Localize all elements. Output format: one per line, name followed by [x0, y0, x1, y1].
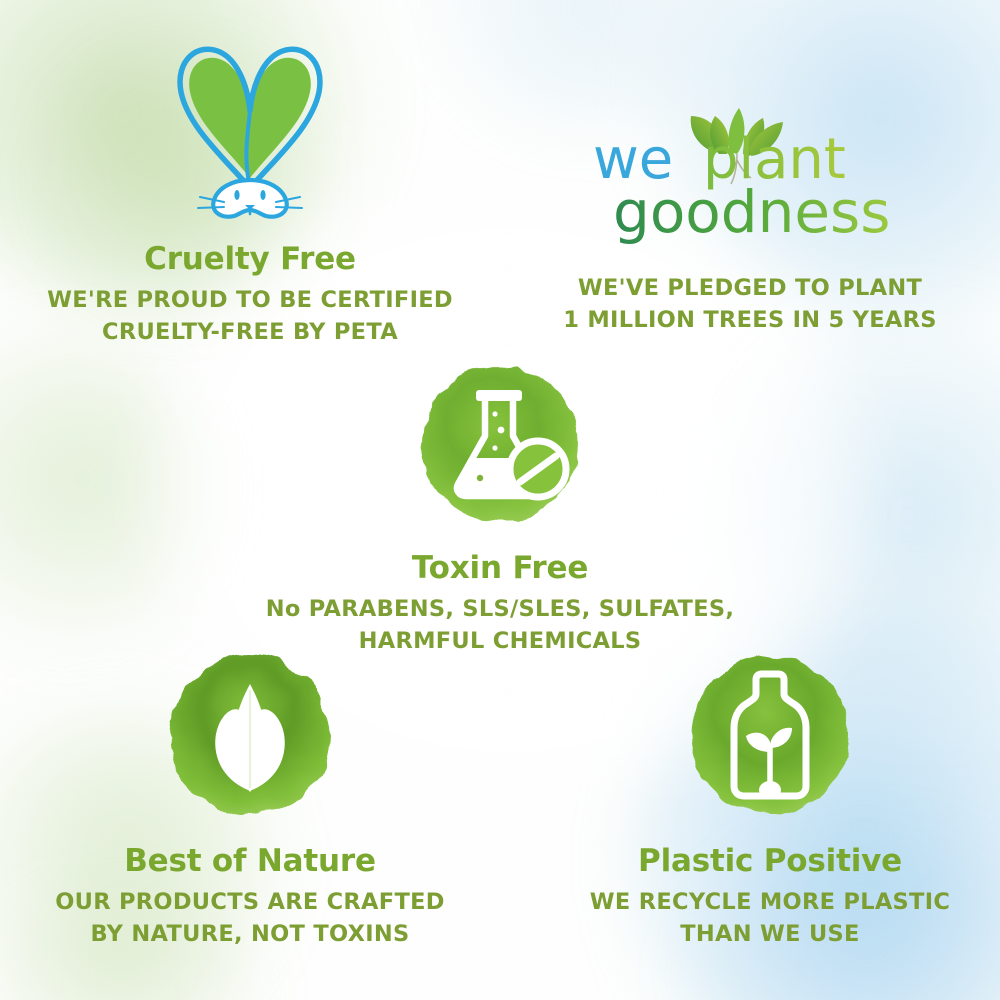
badge-subtitle-line: WE RECYCLE MORE PLASTIC — [545, 887, 995, 919]
badge-we-plant-goodness: we plant goodness WE'VE PLEDGED TO PLANT… — [500, 100, 1000, 337]
sprout-soil-mound — [759, 781, 781, 799]
badge-subtitle-line: CRUELTY-FREE BY PETA — [0, 317, 500, 349]
badge-best-of-nature: Best of Nature OUR PRODUCTS ARE CRAFTED … — [20, 640, 480, 951]
bunny-eye-left — [234, 190, 239, 200]
flask-bubble — [492, 411, 497, 416]
peta-bunny-icon — [160, 30, 340, 220]
badge-plastic-positive: Plastic Positive WE RECYCLE MORE PLASTIC… — [545, 640, 995, 951]
badge-subtitle-line: BY NATURE, NOT TOXINS — [20, 919, 480, 951]
bottle-sprout-icon — [670, 640, 870, 830]
badge-subtitle-line: OUR PRODUCTS ARE CRAFTED — [20, 887, 480, 919]
badge-title: Cruelty Free — [0, 242, 500, 276]
flask-bubble — [492, 445, 497, 450]
badge-subtitle: WE RECYCLE MORE PLASTIC THAN WE USE — [545, 887, 995, 951]
infographic-content: Cruelty Free WE'RE PROUD TO BE CERTIFIED… — [0, 0, 1000, 1000]
badge-subtitle-line: WE'RE PROUD TO BE CERTIFIED — [0, 285, 500, 317]
badge-subtitle: WE'RE PROUD TO BE CERTIFIED CRUELTY-FREE… — [0, 285, 500, 349]
flask-no-toxins-icon — [400, 352, 600, 537]
badge-subtitle-line: THAN WE USE — [545, 919, 995, 951]
badge-subtitle: OUR PRODUCTS ARE CRAFTED BY NATURE, NOT … — [20, 887, 480, 951]
badge-subtitle: WE'VE PLEDGED TO PLANT 1 MILLION TREES I… — [500, 273, 1000, 337]
flask-bubble — [477, 475, 483, 481]
no-symbol-icon — [510, 441, 566, 497]
badge-cruelty-free: Cruelty Free WE'RE PROUD TO BE CERTIFIED… — [0, 30, 500, 349]
badge-toxin-free: Toxin Free No PARABENS, SLS/SLES, SULFAT… — [250, 352, 750, 658]
flask-bubble — [498, 427, 505, 434]
badge-subtitle-line: WE'VE PLEDGED TO PLANT — [500, 273, 1000, 305]
badge-title: Best of Nature — [20, 844, 480, 878]
badge-title: Toxin Free — [250, 551, 750, 585]
logo-word-goodness: goodness — [613, 178, 890, 245]
badge-subtitle-line: No PARABENS, SLS/SLES, SULFATES, — [250, 594, 750, 626]
badge-subtitle-line: 1 MILLION TREES IN 5 YEARS — [500, 305, 1000, 337]
bunny-eye-right — [260, 190, 265, 200]
we-plant-goodness-logo: we plant goodness — [585, 100, 915, 245]
three-leaves-icon — [150, 640, 350, 830]
badge-title: Plastic Positive — [545, 844, 995, 878]
